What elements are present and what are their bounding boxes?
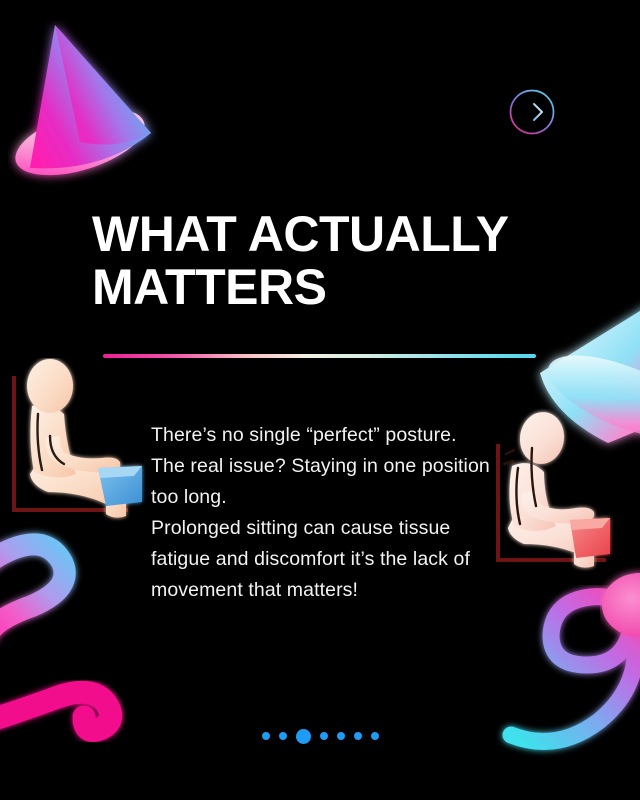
slide-canvas: WHAT ACTUALLY MATTERS There’s no single … xyxy=(0,0,640,800)
seated-figure-upright-illustration xyxy=(2,358,152,543)
seated-figure-slouched-illustration xyxy=(488,408,630,588)
pagination-dot[interactable] xyxy=(262,732,270,740)
pagination-dot[interactable] xyxy=(371,732,379,740)
pagination-dot[interactable] xyxy=(337,732,345,740)
pagination-dots xyxy=(0,728,640,744)
cone-top-left-shape xyxy=(8,20,183,195)
pagination-dot[interactable] xyxy=(279,732,287,740)
next-arrow-button[interactable] xyxy=(508,88,556,136)
ribbon-bottom-left-shape xyxy=(0,520,170,670)
pagination-dot-active[interactable] xyxy=(296,729,311,744)
arrow-right-icon xyxy=(520,104,542,120)
body-text: There’s no single “perfect” posture. The… xyxy=(151,420,501,606)
pagination-dot[interactable] xyxy=(354,732,362,740)
page-title: WHAT ACTUALLY MATTERS xyxy=(92,208,562,314)
pagination-dot[interactable] xyxy=(320,732,328,740)
gradient-divider xyxy=(103,354,536,358)
blob-bottom-right-shape xyxy=(600,560,640,650)
spiral-bottom-right-shape xyxy=(495,585,640,800)
